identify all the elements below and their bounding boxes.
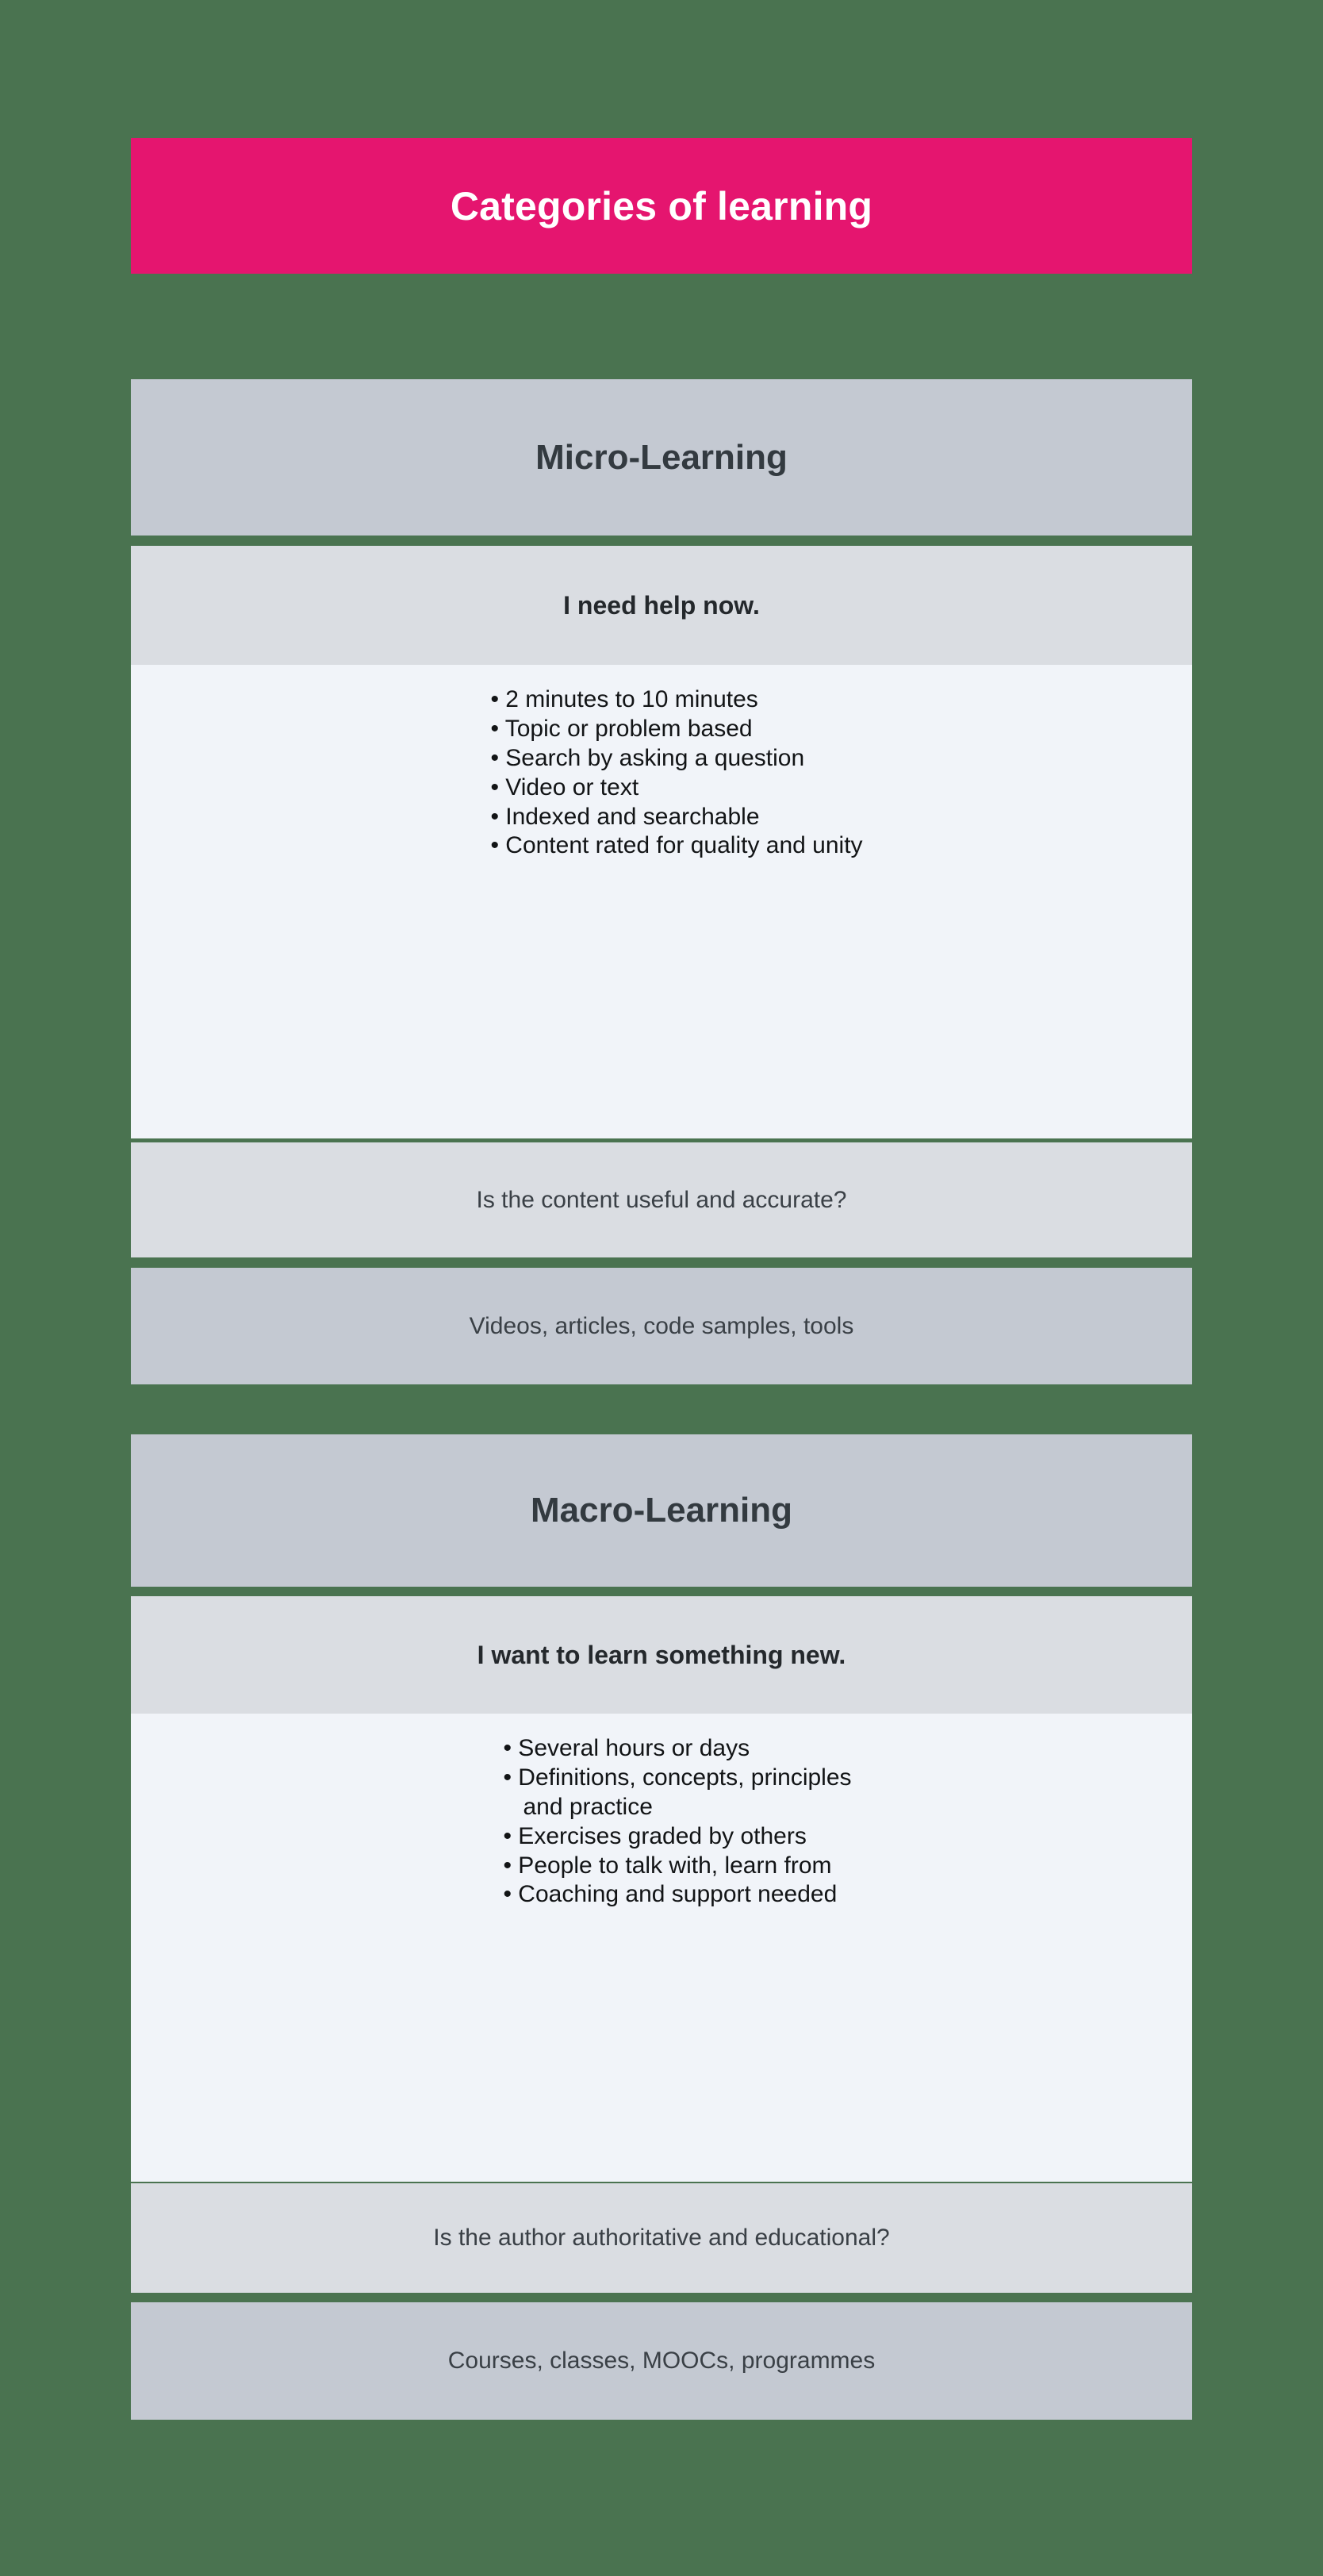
section-header-micro-learning: Micro-Learning (131, 379, 1192, 536)
page-title-banner: Categories of learning (131, 138, 1192, 274)
section-examples-micro-learning: Videos, articles, code samples, tools (131, 1268, 1192, 1384)
list-item: • Search by asking a question (490, 744, 862, 774)
section-examples-label: Videos, articles, code samples, tools (470, 1315, 854, 1338)
page-title: Categories of learning (451, 186, 872, 226)
infographic-canvas: Categories of learning Micro-Learning I … (0, 0, 1323, 2576)
bullet-list-macro-learning: • Several hours or days • Definitions, c… (471, 1734, 851, 1910)
section-bullet-panel-macro-learning: • Several hours or days • Definitions, c… (131, 1714, 1192, 2182)
list-item: • Content rated for quality and unity (490, 831, 862, 861)
section-question-label: Is the content useful and accurate? (477, 1188, 847, 1212)
section-question-macro-learning: Is the author authoritative and educatio… (131, 2183, 1192, 2293)
section-bullet-panel-micro-learning: • 2 minutes to 10 minutes • Topic or pro… (131, 665, 1192, 1138)
section-question-micro-learning: Is the content useful and accurate? (131, 1142, 1192, 1257)
section-subtitle-label: I need help now. (563, 593, 760, 618)
section-examples-label: Courses, classes, MOOCs, programmes (448, 2349, 875, 2373)
section-subtitle-label: I want to learn something new. (477, 1642, 846, 1668)
section-header-label: Micro-Learning (535, 440, 788, 475)
list-item: • People to talk with, learn from (503, 1852, 851, 1881)
section-question-label: Is the author authoritative and educatio… (433, 2226, 889, 2250)
list-item: • Definitions, concepts, principles (503, 1764, 851, 1793)
section-subtitle-macro-learning: I want to learn something new. (131, 1596, 1192, 1714)
list-item: • 2 minutes to 10 minutes (490, 685, 862, 715)
list-item: • Indexed and searchable (490, 803, 862, 832)
list-item: • Topic or problem based (490, 715, 862, 744)
section-examples-macro-learning: Courses, classes, MOOCs, programmes (131, 2302, 1192, 2420)
list-item: • Coaching and support needed (503, 1880, 851, 1910)
section-subtitle-micro-learning: I need help now. (131, 546, 1192, 665)
section-header-macro-learning: Macro-Learning (131, 1434, 1192, 1587)
list-item: • Several hours or days (503, 1734, 851, 1764)
list-item: • Exercises graded by others (503, 1822, 851, 1852)
section-header-label: Macro-Learning (531, 1493, 792, 1528)
bullet-list-micro-learning: • 2 minutes to 10 minutes • Topic or pro… (460, 685, 862, 861)
list-item: • Video or text (490, 774, 862, 803)
list-item-continuation: and practice (503, 1793, 851, 1822)
